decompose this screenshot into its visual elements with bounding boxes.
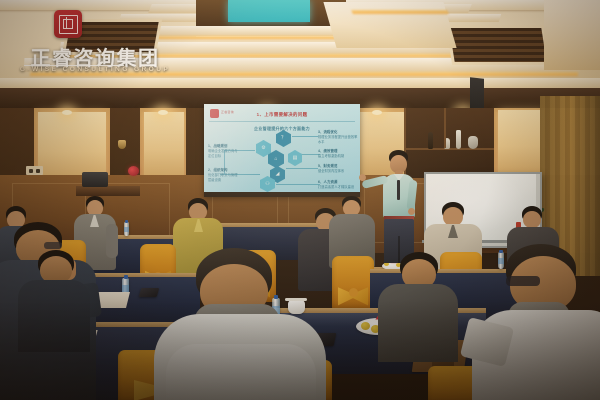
downlight (158, 110, 168, 115)
wall-panel-center-left (144, 112, 184, 180)
attendee-mid-right-grey (376, 252, 460, 360)
av-equipment-box (82, 172, 108, 187)
logo-english-name: G-WISE CONSULTING GROUP (10, 66, 180, 73)
vase-tall-dark (428, 132, 433, 149)
wall-panel-right (498, 110, 544, 176)
chair-knot (349, 288, 358, 297)
torso (18, 280, 90, 352)
chair-mid-3 (332, 256, 374, 310)
attendee-mid-left-dark (18, 250, 92, 350)
water-bottle (124, 222, 129, 236)
eyeglasses (506, 276, 540, 286)
red-flower-decor (128, 166, 139, 176)
presenter-hand-right (408, 208, 415, 215)
light-switch-plate (26, 166, 43, 175)
torso (378, 284, 458, 362)
vase-bottle-white (456, 130, 461, 149)
logo-glyph (59, 15, 78, 34)
projection-screen: 正睿咨询 1、上市需要解决的问题 企业管理提升的六个方面能力 ⚙ ？ ⌂ ▤ ◢… (204, 104, 360, 196)
vase-round-grey (468, 136, 478, 149)
downlight (372, 110, 382, 115)
presenter-hand-left (359, 174, 366, 181)
seminar-photo: 正睿咨询 1、上市需要解决的问题 企业管理提升的六个方面能力 ⚙ ？ ⌂ ▤ ◢… (0, 0, 600, 400)
shirt-highlight (166, 344, 316, 400)
niche-post (444, 108, 446, 148)
screen-glare (204, 104, 360, 196)
ceiling-air-vent-right (449, 28, 546, 62)
side-console-table (76, 186, 140, 196)
projection-screen-frame: 正睿咨询 1、上市需要解决的问题 企业管理提升的六个方面能力 ⚙ ？ ⌂ ▤ ◢… (204, 104, 360, 196)
eyeglasses (44, 242, 62, 249)
attendee-foreground-center (148, 248, 330, 400)
attendee-foreground-right (472, 244, 600, 400)
decorative-lamp (118, 140, 126, 149)
ceiling-projector-panel (228, 0, 310, 22)
presenter-arm-right (406, 180, 417, 211)
fruit-piece (361, 322, 370, 330)
microphone (397, 180, 400, 200)
downlight (62, 110, 72, 115)
gwise-seal-icon (54, 10, 82, 38)
brand-logo-overlay: 正睿咨询集团 G-WISE CONSULTING GROUP (10, 10, 180, 76)
